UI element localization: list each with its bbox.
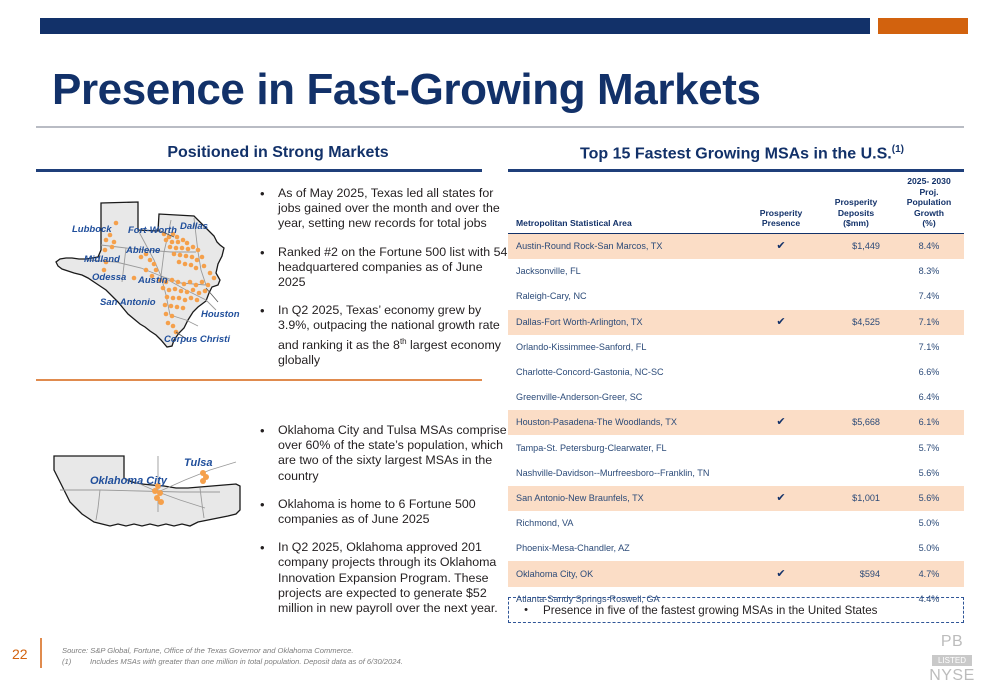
table-row: Jacksonville, FL8.3% — [508, 259, 964, 284]
table-row: Richmond, VA5.0% — [508, 511, 964, 536]
column-header-deposits-line1: Prosperity — [822, 197, 890, 208]
column-header-presence: Prosperity Presence — [744, 176, 818, 233]
msa-table-body: Austin-Round Rock-San Marcos, TX✔$1,4498… — [508, 233, 964, 611]
table-row: Raleigh-Cary, NC7.4% — [508, 284, 964, 309]
cell-prosperity-presence — [744, 360, 818, 385]
left-column-header: Positioned in Strong Markets — [36, 144, 520, 162]
list-item: • Oklahoma City and Tulsa MSAs comprise … — [258, 423, 508, 484]
exchange-name: NYSE — [922, 668, 982, 684]
page-title: Presence in Fast-Growing Markets — [52, 66, 761, 114]
column-header-presence-line2: Presence — [748, 218, 814, 229]
oklahoma-map: Tulsa Oklahoma City — [40, 432, 260, 542]
column-header-growth-line2: Proj. Population — [898, 187, 960, 208]
map-label-midland: Midland — [84, 254, 120, 265]
cell-msa: San Antonio-New Braunfels, TX — [508, 486, 744, 511]
list-item: • In Q2 2025, Texas’ economy grew by 3.9… — [258, 303, 508, 368]
cell-prosperity-deposits: $1,001 — [818, 486, 894, 511]
msa-table-head: Metropolitan Statistical Area Prosperity… — [508, 176, 964, 233]
table-row: Charlotte-Concord-Gastonia, NC-SC6.6% — [508, 360, 964, 385]
bullet-marker: • — [258, 497, 278, 512]
footnote-text: Includes MSAs with greater than one mill… — [90, 657, 403, 666]
slide-root: Presence in Fast-Growing Markets Positio… — [0, 0, 1000, 685]
title-divider — [36, 126, 964, 128]
bullet-text: As of May 2025, Texas led all states for… — [278, 186, 508, 232]
msa-table-wrapper: Metropolitan Statistical Area Prosperity… — [508, 176, 964, 612]
right-column-header-footnote: (1) — [892, 144, 904, 155]
map-label-san-antonio: San Antonio — [100, 297, 156, 308]
cell-prosperity-deposits — [818, 259, 894, 284]
footer-divider — [40, 638, 42, 668]
cell-prosperity-deposits: $1,449 — [818, 233, 894, 259]
source-line: Source: S&P Global, Fortune, Office of t… — [62, 645, 403, 656]
column-header-presence-line1: Prosperity — [748, 208, 814, 219]
cell-prosperity-deposits — [818, 284, 894, 309]
cell-prosperity-presence — [744, 461, 818, 486]
listed-badge: LISTED — [932, 655, 972, 666]
cell-population-growth: 6.1% — [894, 410, 964, 435]
page-number: 22 — [12, 646, 28, 662]
map-label-oklahoma-city: Oklahoma City — [90, 475, 168, 487]
cell-prosperity-presence: ✔ — [744, 310, 818, 335]
right-header-rule — [508, 169, 964, 172]
cell-msa: Tampa-St. Petersburg-Clearwater, FL — [508, 435, 744, 460]
cell-prosperity-deposits — [818, 385, 894, 410]
cell-prosperity-presence — [744, 385, 818, 410]
map-label-austin: Austin — [137, 275, 168, 286]
callout-box: • Presence in five of the fastest growin… — [508, 597, 964, 623]
table-row: Austin-Round Rock-San Marcos, TX✔$1,4498… — [508, 233, 964, 259]
bullet-marker: • — [258, 245, 278, 260]
cell-msa: Jacksonville, FL — [508, 259, 744, 284]
table-row: San Antonio-New Braunfels, TX✔$1,0015.6% — [508, 486, 964, 511]
list-item: • Ranked #2 on the Fortune 500 list with… — [258, 245, 508, 291]
map-label-odessa: Odessa — [92, 272, 126, 283]
cell-prosperity-presence — [744, 536, 818, 561]
bullet-marker: • — [258, 423, 278, 438]
cell-prosperity-presence: ✔ — [744, 410, 818, 435]
list-item: • As of May 2025, Texas led all states f… — [258, 186, 508, 232]
cell-prosperity-deposits — [818, 536, 894, 561]
column-header-growth-line1: 2025- 2030 — [898, 176, 960, 187]
table-row: Greenville-Anderson-Greer, SC6.4% — [508, 385, 964, 410]
texas-bullet-list: • As of May 2025, Texas led all states f… — [258, 186, 508, 381]
cell-prosperity-deposits — [818, 461, 894, 486]
cell-prosperity-presence — [744, 284, 818, 309]
cell-msa: Phoenix-Mesa-Chandler, AZ — [508, 536, 744, 561]
right-column-header: Top 15 Fastest Growing MSAs in the U.S.(… — [520, 144, 964, 163]
left-header-rule — [36, 169, 482, 172]
cell-population-growth: 5.0% — [894, 536, 964, 561]
bullet-marker: • — [258, 186, 278, 201]
map-label-corpus-christi: Corpus Christi — [164, 334, 230, 345]
top-accent-bar-blue — [40, 18, 870, 34]
cell-prosperity-presence: ✔ — [744, 486, 818, 511]
column-header-deposits-line2: Deposits — [822, 208, 890, 219]
map-label-lubbock: Lubbock — [72, 224, 112, 235]
cell-prosperity-deposits: $594 — [818, 561, 894, 586]
left-column-header-label: Positioned in Strong Markets — [167, 144, 388, 161]
cell-prosperity-deposits — [818, 435, 894, 460]
cell-prosperity-deposits: $5,668 — [818, 410, 894, 435]
cell-prosperity-deposits — [818, 360, 894, 385]
cell-population-growth: 8.3% — [894, 259, 964, 284]
section-divider-orange — [36, 379, 482, 381]
cell-msa: Orlando-Kissimmee-Sanford, FL — [508, 335, 744, 360]
bullet-text: Oklahoma is home to 6 Fortune 500 compan… — [278, 497, 508, 527]
texas-map-svg: Lubbock Fort-Worth Dallas Abilene Midlan… — [46, 190, 256, 370]
ticker-symbol: PB — [922, 634, 982, 650]
cell-msa: Richmond, VA — [508, 511, 744, 536]
oklahoma-bullet-list: • Oklahoma City and Tulsa MSAs comprise … — [258, 423, 508, 629]
msa-table: Metropolitan Statistical Area Prosperity… — [508, 176, 964, 612]
cell-population-growth: 8.4% — [894, 233, 964, 259]
cell-population-growth: 6.6% — [894, 360, 964, 385]
cell-prosperity-presence: ✔ — [744, 233, 818, 259]
cell-prosperity-presence — [744, 435, 818, 460]
table-row: Nashville-Davidson--Murfreesboro--Frankl… — [508, 461, 964, 486]
footnote-number: (1) — [62, 656, 90, 667]
table-header-row: Metropolitan Statistical Area Prosperity… — [508, 176, 964, 233]
nyse-logo: PB LISTED NYSE — [922, 634, 982, 684]
bullet-text: In Q2 2025, Oklahoma approved 201 compan… — [278, 540, 508, 616]
column-header-msa: Metropolitan Statistical Area — [508, 176, 744, 233]
table-row: Orlando-Kissimmee-Sanford, FL7.1% — [508, 335, 964, 360]
cell-prosperity-presence — [744, 511, 818, 536]
bullet-marker: • — [258, 540, 278, 555]
source-note: Source: S&P Global, Fortune, Office of t… — [62, 645, 403, 667]
callout-text: Presence in five of the fastest growing … — [543, 604, 877, 617]
cell-msa: Dallas-Fort Worth-Arlington, TX — [508, 310, 744, 335]
right-column-header-label: Top 15 Fastest Growing MSAs in the U.S. — [580, 145, 892, 162]
column-header-deposits: Prosperity Deposits ($mm) — [818, 176, 894, 233]
cell-population-growth: 5.6% — [894, 486, 964, 511]
cell-msa: Greenville-Anderson-Greer, SC — [508, 385, 744, 410]
column-header-deposits-line3: ($mm) — [822, 218, 890, 229]
top-accent-bar-orange — [878, 18, 968, 34]
map-label-fort-worth: Fort-Worth — [128, 225, 177, 236]
bullet-text: Ranked #2 on the Fortune 500 list with 5… — [278, 245, 508, 291]
map-label-dallas: Dallas — [180, 221, 208, 232]
list-item: • In Q2 2025, Oklahoma approved 201 comp… — [258, 540, 508, 616]
cell-prosperity-presence — [744, 259, 818, 284]
cell-population-growth: 7.1% — [894, 310, 964, 335]
column-header-msa-label: Metropolitan Statistical Area — [516, 218, 632, 228]
column-header-growth-line3: Growth — [898, 208, 960, 219]
callout-bullet-marker: • — [509, 604, 543, 616]
cell-msa: Raleigh-Cary, NC — [508, 284, 744, 309]
bullet-marker: • — [258, 303, 278, 318]
cell-prosperity-deposits — [818, 511, 894, 536]
cell-population-growth: 4.7% — [894, 561, 964, 586]
cell-prosperity-deposits — [818, 335, 894, 360]
cell-population-growth: 5.0% — [894, 511, 964, 536]
cell-prosperity-deposits: $4,525 — [818, 310, 894, 335]
bullet-text: Oklahoma City and Tulsa MSAs comprise ov… — [278, 423, 508, 484]
cell-prosperity-presence: ✔ — [744, 561, 818, 586]
table-row: Oklahoma City, OK✔$5944.7% — [508, 561, 964, 586]
cell-population-growth: 5.7% — [894, 435, 964, 460]
list-item: • Oklahoma is home to 6 Fortune 500 comp… — [258, 497, 508, 527]
cell-prosperity-presence — [744, 335, 818, 360]
bullet-text: In Q2 2025, Texas’ economy grew by 3.9%,… — [278, 303, 508, 368]
column-header-growth-line4: (%) — [898, 218, 960, 229]
table-row: Tampa-St. Petersburg-Clearwater, FL5.7% — [508, 435, 964, 460]
cell-msa: Charlotte-Concord-Gastonia, NC-SC — [508, 360, 744, 385]
map-label-tulsa: Tulsa — [184, 457, 213, 469]
cell-msa: Austin-Round Rock-San Marcos, TX — [508, 233, 744, 259]
texas-map: Lubbock Fort-Worth Dallas Abilene Midlan… — [46, 190, 256, 370]
cell-msa: Houston-Pasadena-The Woodlands, TX — [508, 410, 744, 435]
map-label-abilene: Abilene — [125, 245, 161, 256]
table-row: Houston-Pasadena-The Woodlands, TX✔$5,66… — [508, 410, 964, 435]
cell-population-growth: 5.6% — [894, 461, 964, 486]
cell-population-growth: 7.1% — [894, 335, 964, 360]
oklahoma-map-svg: Tulsa Oklahoma City — [40, 432, 260, 542]
cell-msa: Oklahoma City, OK — [508, 561, 744, 586]
table-row: Dallas-Fort Worth-Arlington, TX✔$4,5257.… — [508, 310, 964, 335]
table-row: Phoenix-Mesa-Chandler, AZ5.0% — [508, 536, 964, 561]
column-header-growth: 2025- 2030 Proj. Population Growth (%) — [894, 176, 964, 233]
footnote-line: (1)Includes MSAs with greater than one m… — [62, 656, 403, 667]
cell-msa: Nashville-Davidson--Murfreesboro--Frankl… — [508, 461, 744, 486]
map-label-houston: Houston — [201, 309, 240, 320]
cell-population-growth: 6.4% — [894, 385, 964, 410]
cell-population-growth: 7.4% — [894, 284, 964, 309]
